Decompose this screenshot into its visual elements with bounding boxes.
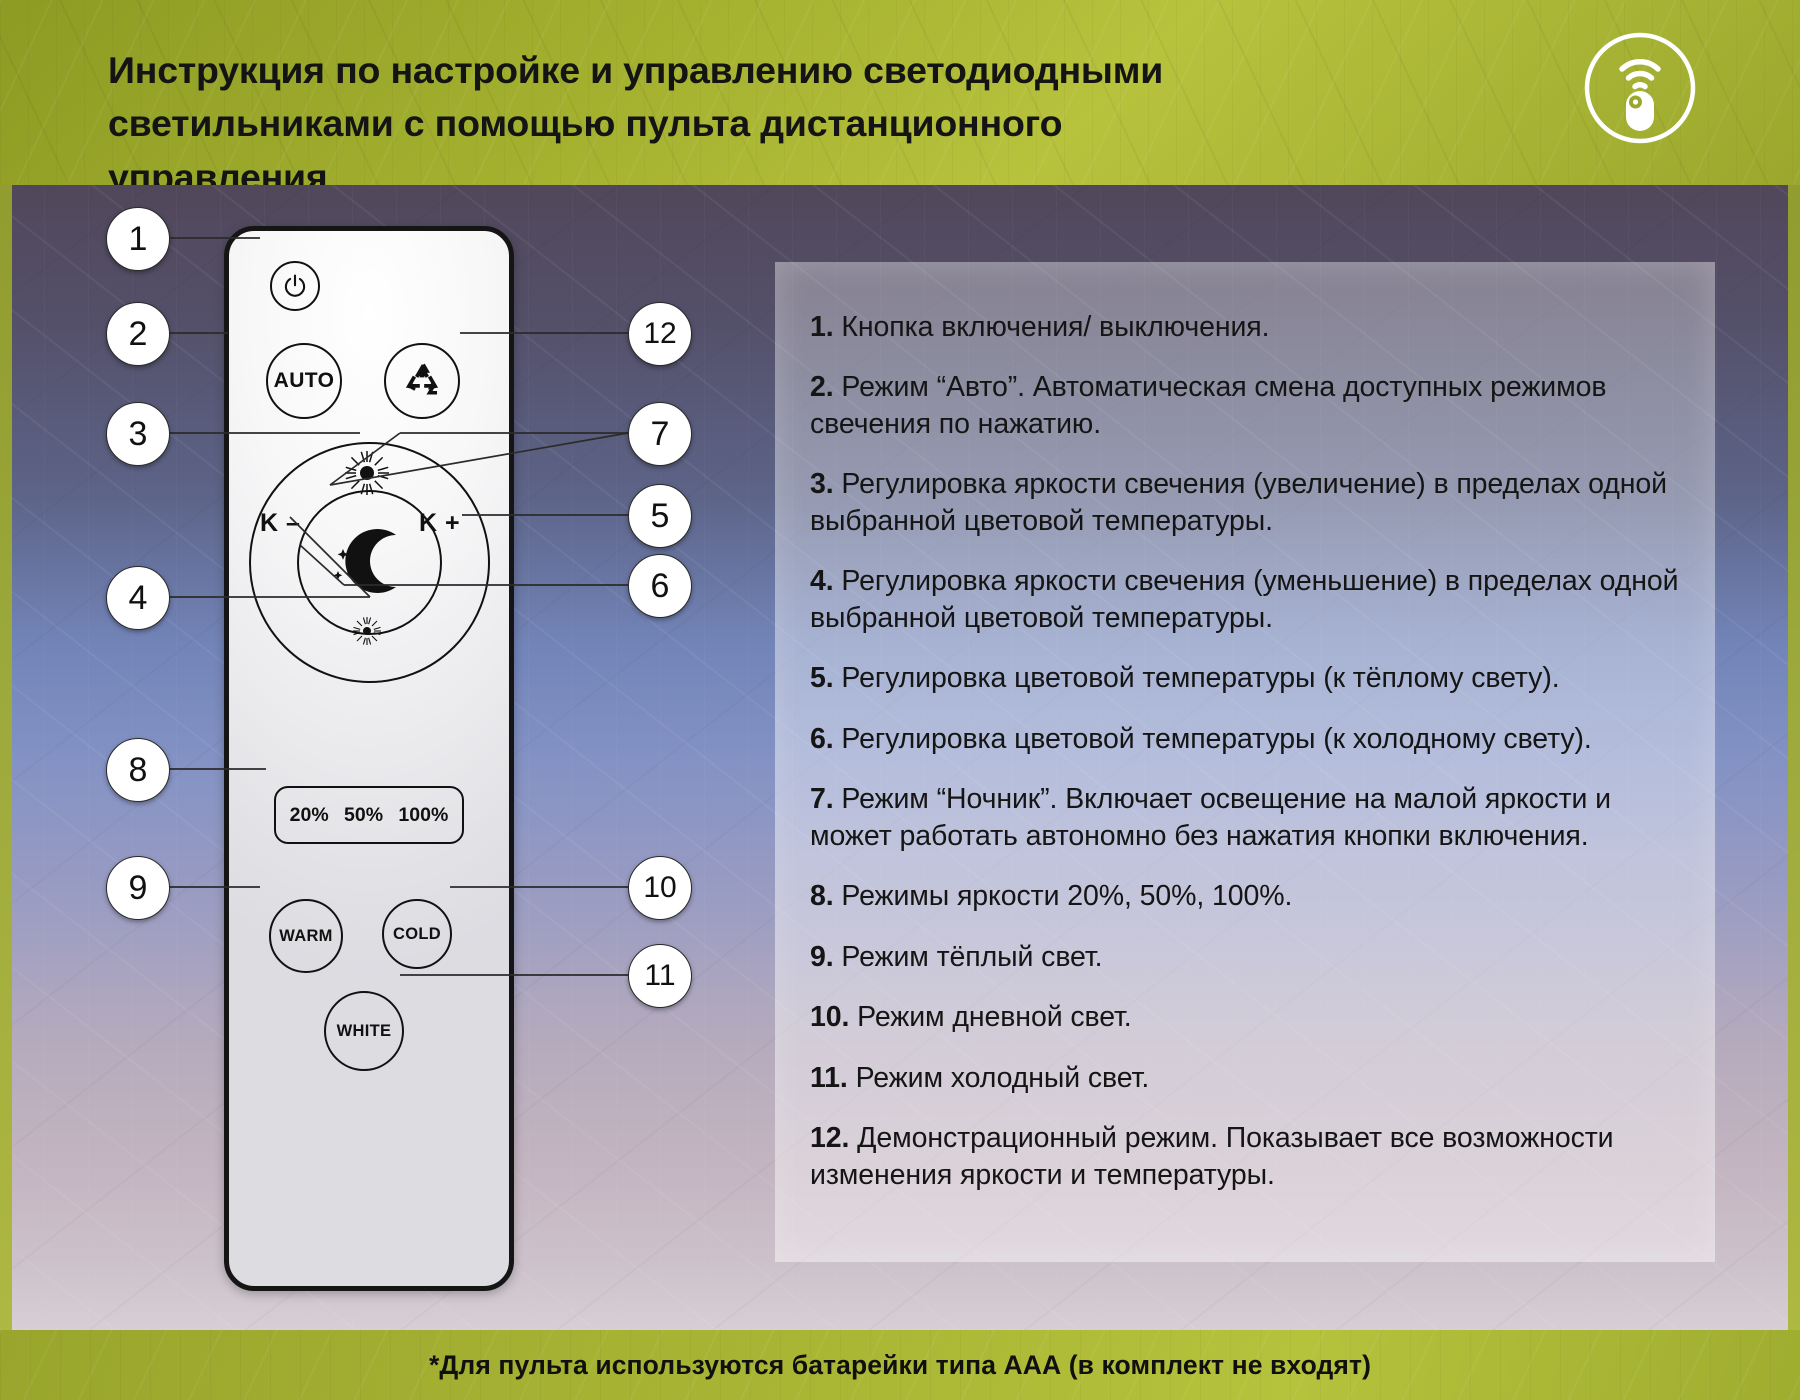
page-header: Инструкция по настройке и управлению све… [0,0,1800,205]
callout-3[interactable]: 3 [106,402,170,466]
callout-2[interactable]: 2 [106,302,170,366]
diagram-stage: AUTO [0,185,1800,1335]
night-mode-button[interactable] [324,521,412,601]
battery-note: *Для пульта используются батарейки типа … [0,1330,1800,1400]
remote-control-device: AUTO [224,226,514,1291]
preset-20[interactable]: 20% [290,804,329,827]
brightness-up-button[interactable] [343,449,391,497]
power-icon [281,272,309,300]
callout-6[interactable]: 6 [628,554,692,618]
warm-button[interactable]: WARM [269,899,343,973]
color-temp-cold-label[interactable]: K + [419,509,460,538]
brightness-down-button[interactable] [352,616,382,646]
legend-item-10: 10. Режим дневной свет. [810,999,1690,1035]
legend-text-11: Режим холодный свет. [856,1062,1150,1094]
auto-button-label: AUTO [274,369,335,393]
remote-control-signal-icon [1581,29,1699,147]
legend-item-11: 11. Режим холодный свет. [810,1060,1690,1096]
legend-item-3: 3. Регулировка яркости свечения (увеличе… [810,466,1690,539]
legend-text-1: Кнопка включения/ выключения. [841,311,1269,343]
sun-dim-icon [352,616,382,646]
legend-item-5: 5. Регулировка цветовой температуры (к т… [810,660,1690,696]
legend-num-7: 7. [810,783,834,815]
legend-text-5: Регулировка цветовой температуры (к тёпл… [841,662,1559,694]
legend-text-3: Регулировка яркости свечения (увеличение… [810,468,1667,536]
recycle-loop-icon [401,360,443,402]
warm-button-label: WARM [279,927,332,946]
sun-bright-icon [343,449,391,497]
preset-50[interactable]: 50% [344,804,383,827]
legend-text-8: Режимы яркости 20%, 50%, 100%. [841,880,1292,912]
legend-text-7: Режим “Ночник”. Включает освещение на ма… [810,783,1611,851]
legend-text-2: Режим “Авто”. Автоматическая смена досту… [810,371,1606,439]
page-title: Инструкция по настройке и управлению све… [108,44,1288,204]
callout-1[interactable]: 1 [106,207,170,271]
legend-num-8: 8. [810,880,834,912]
legend-text-10: Режим дневной свет. [857,1001,1131,1033]
legend-num-2: 2. [810,371,834,403]
demo-button[interactable] [384,343,460,419]
white-button-label: WHITE [337,1022,392,1041]
moon-stars-icon [324,521,412,601]
legend-num-1: 1. [810,311,834,343]
page-footer: *Для пульта используются батарейки типа … [0,1330,1800,1400]
preset-100[interactable]: 100% [398,804,448,827]
legend-num-4: 4. [810,565,834,597]
legend-item-12: 12. Демонстрационный режим. Показывает в… [810,1120,1690,1193]
legend-item-4: 4. Регулировка яркости свечения (уменьше… [810,563,1690,636]
legend-text-9: Режим тёплый свет. [841,941,1102,973]
infographic-page: Инструкция по настройке и управлению све… [0,0,1800,1400]
power-button[interactable] [270,261,320,311]
cold-button-label: COLD [393,925,441,944]
page-title-line-1: Инструкция по настройке и управлению све… [108,44,1288,97]
legend-item-6: 6. Регулировка цветовой температуры (к х… [810,721,1690,757]
legend-text-4: Регулировка яркости свечения (уменьшение… [810,565,1678,633]
callout-8[interactable]: 8 [106,738,170,802]
callout-4[interactable]: 4 [106,566,170,630]
white-button[interactable]: WHITE [324,991,404,1071]
right-accent-strip [1788,185,1800,1335]
legend-item-8: 8. Режимы яркости 20%, 50%, 100%. [810,878,1690,914]
legend-num-10: 10. [810,1001,849,1033]
brightness-presets-button[interactable]: 20% 50% 100% [274,786,464,844]
left-accent-strip [0,185,12,1335]
callout-12[interactable]: 12 [628,302,692,366]
legend-num-5: 5. [810,662,834,694]
callout-9[interactable]: 9 [106,856,170,920]
legend-text-12: Демонстрационный режим. Показывает все в… [810,1122,1614,1190]
legend-list: 1. Кнопка включения/ выключения. 2. Режи… [810,309,1690,1217]
auto-button[interactable]: AUTO [266,343,342,419]
legend-num-11: 11. [810,1062,848,1094]
legend-num-12: 12. [810,1122,849,1154]
legend-item-7: 7. Режим “Ночник”. Включает освещение на… [810,781,1690,854]
callout-5[interactable]: 5 [628,484,692,548]
color-temp-warm-label[interactable]: K – [260,509,300,538]
cold-button[interactable]: COLD [382,899,452,969]
legend-num-6: 6. [810,723,834,755]
legend-item-2: 2. Режим “Авто”. Автоматическая смена до… [810,369,1690,442]
callout-10[interactable]: 10 [628,856,692,920]
legend-num-3: 3. [810,468,834,500]
legend-num-9: 9. [810,941,834,973]
legend-text-6: Регулировка цветовой температуры (к холо… [841,723,1591,755]
legend-item-9: 9. Режим тёплый свет. [810,939,1690,975]
callout-7[interactable]: 7 [628,402,692,466]
legend-item-1: 1. Кнопка включения/ выключения. [810,309,1690,345]
callout-11[interactable]: 11 [628,944,692,1008]
